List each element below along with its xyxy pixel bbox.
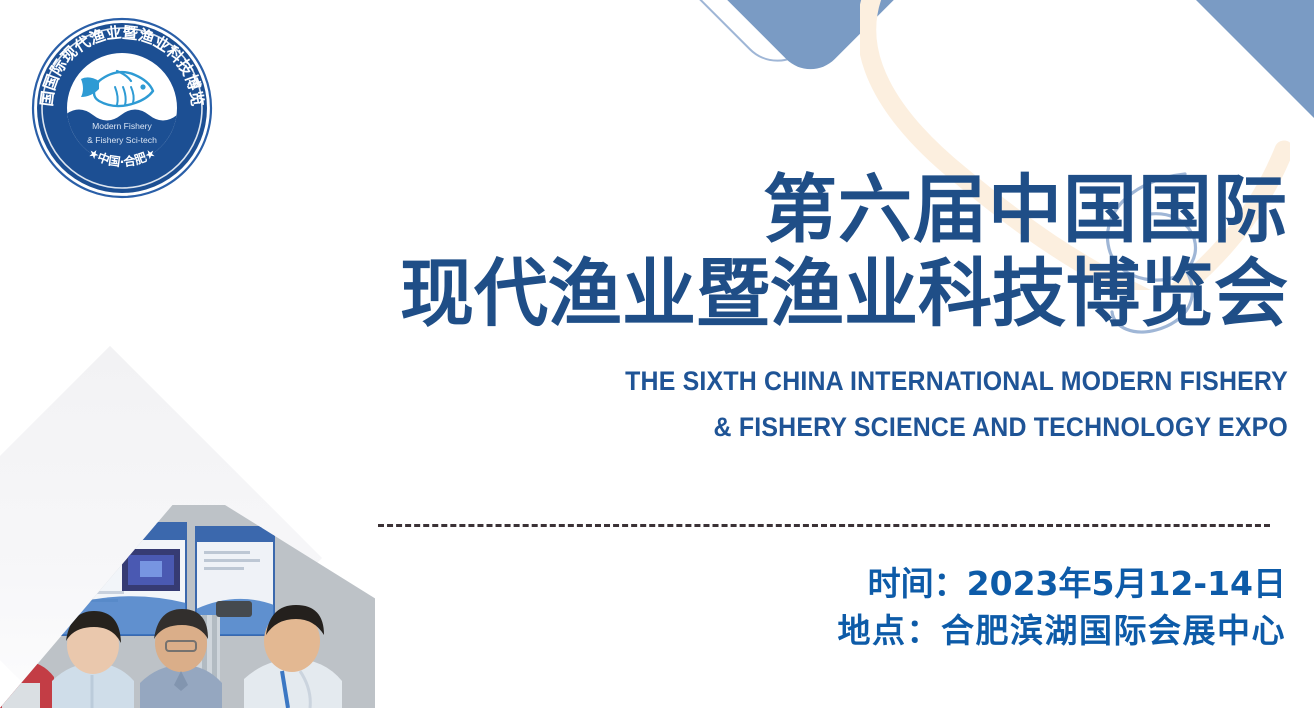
expo-poster: Modern Fishery & Fishery Sci-tech 中国国际现代… (0, 0, 1314, 708)
title-cn-line2: 现代渔业暨渔业科技博览会 (0, 252, 1288, 336)
subtitle-en-line1: THE SIXTH CHINA INTERNATIONAL MODERN FIS… (77, 358, 1288, 404)
headline-block: 第六届中国国际 现代渔业暨渔业科技博览会 THE SIXTH CHINA INT… (0, 0, 1288, 450)
subtitle-en: THE SIXTH CHINA INTERNATIONAL MODERN FIS… (77, 358, 1288, 450)
dashed-divider (378, 524, 1270, 527)
subtitle-en-line2: & FISHERY SCIENCE AND TECHNOLOGY EXPO (77, 404, 1288, 450)
title-cn-line1: 第六届中国国际 (0, 168, 1288, 252)
page-title: 第六届中国国际 现代渔业暨渔业科技博览会 (0, 168, 1288, 336)
